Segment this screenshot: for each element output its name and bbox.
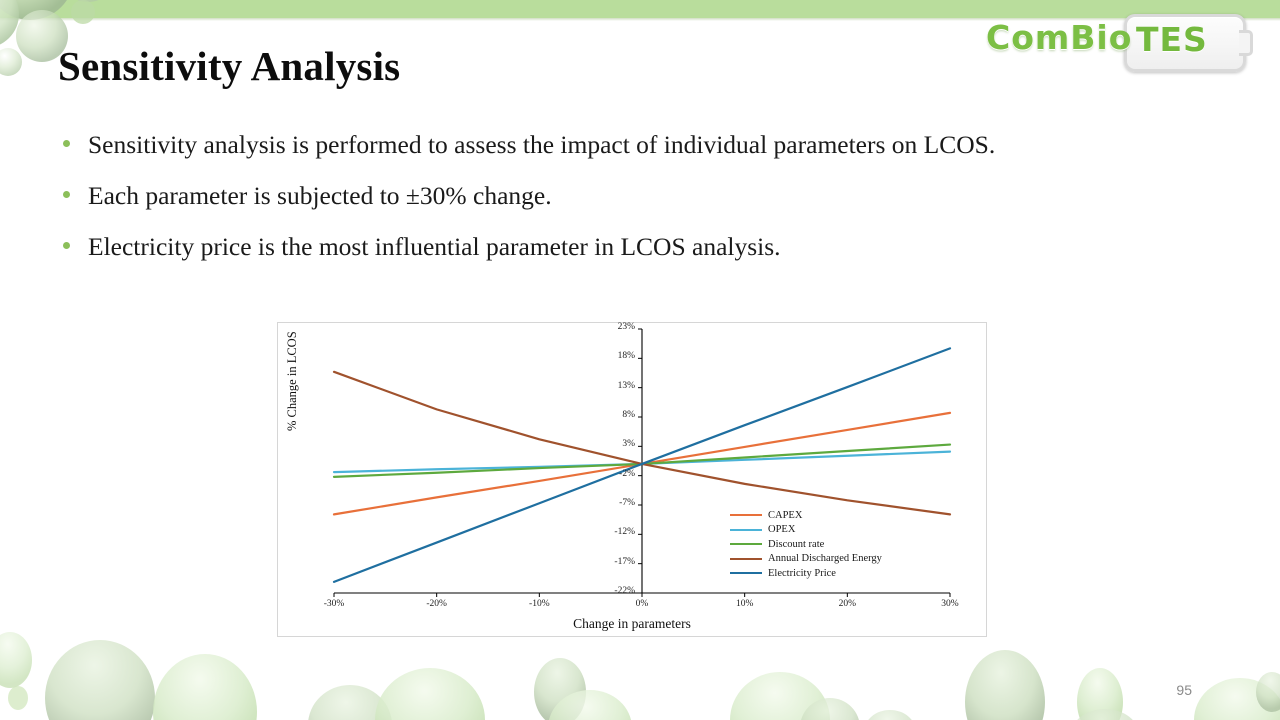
- chart-y-tick-label: -2%: [619, 469, 635, 479]
- bullet-dot-icon: [63, 191, 70, 198]
- bullet-item: Each parameter is subjected to ±30% chan…: [58, 177, 1218, 214]
- legend-item: CAPEX: [730, 508, 882, 523]
- decorative-bubbles-bottom: [0, 620, 1280, 720]
- chart-legend: CAPEXOPEXDiscount rateAnnual Discharged …: [730, 508, 882, 581]
- chart-y-tick-label: 18%: [618, 351, 635, 361]
- legend-label: OPEX: [768, 524, 795, 535]
- chart-y-tick-label: 8%: [622, 410, 635, 420]
- legend-color-swatch: [730, 529, 762, 531]
- legend-item: Electricity Price: [730, 566, 882, 581]
- page-title: Sensitivity Analysis: [58, 42, 400, 90]
- chart-y-tick-label: 3%: [622, 439, 635, 449]
- bullet-text: Sensitivity analysis is performed to ass…: [88, 130, 995, 159]
- page-number: 95: [1176, 682, 1192, 698]
- chart-y-tick-label: -22%: [614, 586, 635, 596]
- slide: ComBio TES Sensitivity Analysis Sensitiv…: [0, 0, 1280, 720]
- bullet-list: Sensitivity analysis is performed to ass…: [58, 126, 1218, 279]
- legend-item: Annual Discharged Energy: [730, 552, 882, 567]
- bullet-item: Electricity price is the most influentia…: [58, 228, 1218, 265]
- bullet-text: Each parameter is subjected to ±30% chan…: [88, 181, 552, 210]
- chart-x-tick-label: 20%: [822, 599, 872, 609]
- legend-label: Annual Discharged Energy: [768, 553, 882, 564]
- legend-color-swatch: [730, 572, 762, 574]
- legend-item: OPEX: [730, 523, 882, 538]
- logo-text-tes: TES: [1136, 20, 1208, 59]
- chart-y-tick-label: 23%: [618, 322, 635, 332]
- chart-x-tick-label: -10%: [514, 599, 564, 609]
- chart-x-tick-label: -30%: [309, 599, 359, 609]
- legend-label: Electricity Price: [768, 568, 836, 579]
- chart-y-tick-label: -17%: [614, 557, 635, 567]
- logo-battery-terminal: [1239, 30, 1253, 56]
- legend-label: Discount rate: [768, 539, 824, 550]
- bullet-dot-icon: [63, 242, 70, 249]
- bullet-dot-icon: [63, 140, 70, 147]
- chart-x-tick-label: -20%: [412, 599, 462, 609]
- legend-label: CAPEX: [768, 510, 802, 521]
- chart-x-tick-label: 30%: [925, 599, 975, 609]
- chart-x-tick-label: 10%: [720, 599, 770, 609]
- combiotes-logo: ComBio TES: [986, 18, 1258, 66]
- chart-x-tick-label: 0%: [617, 599, 667, 609]
- chart-y-tick-label: 13%: [618, 381, 635, 391]
- legend-color-swatch: [730, 543, 762, 545]
- legend-color-swatch: [730, 558, 762, 560]
- logo-text-combio: ComBio: [986, 18, 1132, 57]
- chart-y-tick-label: -12%: [614, 527, 635, 537]
- legend-item: Discount rate: [730, 537, 882, 552]
- legend-color-swatch: [730, 514, 762, 516]
- sensitivity-chart: % Change in LCOS Change in parameters 23…: [277, 322, 987, 637]
- chart-y-tick-label: -7%: [619, 498, 635, 508]
- bullet-item: Sensitivity analysis is performed to ass…: [58, 126, 1218, 163]
- bullet-text: Electricity price is the most influentia…: [88, 232, 781, 261]
